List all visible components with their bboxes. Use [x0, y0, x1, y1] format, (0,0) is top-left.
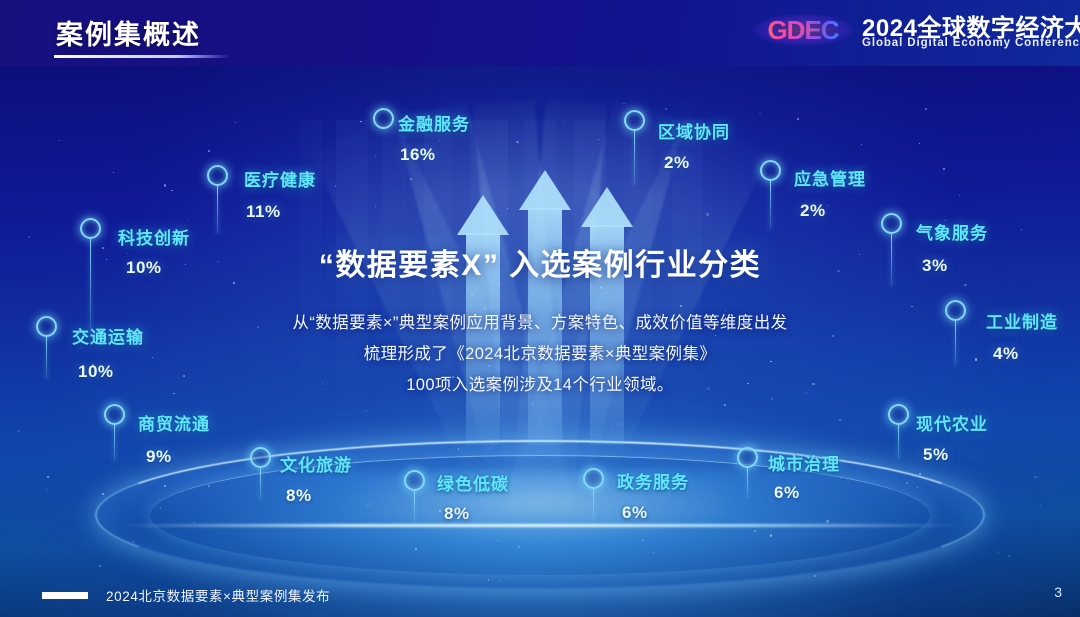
callout-stem: [891, 234, 893, 286]
particle: [706, 213, 708, 215]
slide-canvas: 案例集概述 GDEC 2024全球数字经济大会 Global Digital E…: [0, 0, 1080, 617]
description-line: 梳理形成了《2024北京数据要素×典型案例集》: [0, 339, 1080, 370]
callout-marker-icon: [36, 316, 57, 337]
particle: [99, 565, 101, 567]
particle: [997, 552, 999, 554]
callout-marker-icon: [624, 110, 645, 131]
title-underline: [54, 55, 230, 58]
conference-name-en: Global Digital Economy Conference 2024: [862, 37, 1080, 49]
industry-percentage: 9%: [146, 447, 172, 467]
header-band: 案例集概述 GDEC 2024全球数字经济大会 Global Digital E…: [0, 0, 1080, 66]
industry-label: 科技创新: [118, 224, 190, 249]
particle: [943, 168, 944, 169]
industry-label: 城市治理: [768, 450, 840, 475]
floor-highlight-line: [120, 524, 960, 527]
callout-marker-icon: [207, 165, 228, 186]
page-title: 案例集概述: [56, 13, 201, 52]
industry-label: 金融服务: [398, 110, 470, 135]
particle: [826, 520, 828, 522]
particle: [46, 489, 47, 490]
gdec-logo-icon: GDEC: [757, 12, 849, 48]
industry-percentage: 6%: [622, 503, 648, 523]
industry-percentage: 8%: [444, 504, 470, 524]
callout-marker-icon: [373, 108, 394, 129]
callout-marker-icon: [250, 447, 271, 468]
particle: [598, 139, 599, 140]
callout-stem: [217, 186, 219, 234]
industry-label: 商贸流通: [138, 410, 210, 435]
particle: [245, 563, 246, 564]
callout-marker-icon: [583, 468, 604, 489]
industry-label: 交通运输: [72, 323, 144, 348]
callout-stem: [593, 489, 595, 521]
particle: [642, 540, 643, 541]
industry-label: 区域协同: [658, 118, 730, 143]
description-line: 100项入选案例涉及14个行业领域。: [0, 370, 1080, 401]
particle: [653, 552, 654, 553]
industry-percentage: 10%: [78, 362, 114, 382]
particle: [917, 487, 918, 488]
particle: [28, 236, 30, 238]
industry-percentage: 2%: [800, 201, 826, 221]
particle: [919, 473, 921, 475]
callout-marker-icon: [888, 404, 909, 425]
description-line: 从“数据要素×”典型案例应用背景、方案特色、成效价值等维度出发: [0, 308, 1080, 339]
industry-label: 气象服务: [916, 219, 988, 244]
callout-stem: [414, 491, 416, 521]
particle: [516, 141, 518, 143]
callout-marker-icon: [881, 213, 902, 234]
industry-percentage: 6%: [774, 483, 800, 503]
industry-percentage: 4%: [993, 344, 1019, 364]
particle: [906, 482, 908, 484]
callout-marker-icon: [80, 218, 101, 239]
particle: [564, 122, 565, 123]
particle: [484, 567, 485, 568]
particle: [208, 485, 210, 487]
footer-accent-bar: [42, 592, 88, 599]
page-number: 3: [1054, 584, 1062, 600]
industry-percentage: 11%: [246, 202, 281, 222]
industry-label: 工业制造: [986, 308, 1058, 333]
industry-percentage: 8%: [286, 486, 312, 506]
callout-marker-icon: [104, 404, 125, 425]
callout-stem: [955, 321, 957, 365]
callout-stem: [46, 337, 48, 379]
callout-marker-icon: [760, 160, 781, 181]
industry-percentage: 16%: [400, 145, 436, 165]
particle: [375, 156, 376, 157]
particle: [113, 172, 114, 173]
particle: [59, 140, 60, 141]
callout-stem: [747, 468, 749, 498]
particle: [187, 219, 188, 220]
callout-marker-icon: [737, 447, 758, 468]
particle: [925, 108, 926, 109]
particle: [17, 430, 19, 432]
particle: [1021, 229, 1022, 230]
particle: [490, 447, 492, 449]
particle: [919, 143, 920, 144]
industry-label: 现代农业: [916, 410, 988, 435]
particle: [1008, 555, 1010, 557]
footer-caption: 2024北京数据要素×典型案例集发布: [106, 585, 330, 605]
industry-label: 应急管理: [794, 165, 866, 190]
industry-percentage: 3%: [922, 256, 948, 276]
callout-stem: [634, 131, 636, 185]
center-content: “数据要素X” 入选案例行业分类 从“数据要素×”典型案例应用背景、方案特色、成…: [0, 240, 1080, 401]
particle: [415, 548, 417, 550]
callout-stem: [898, 425, 900, 459]
particle: [497, 540, 498, 541]
callout-marker-icon: [404, 470, 425, 491]
description-block: 从“数据要素×”典型案例应用背景、方案特色、成效价值等维度出发 梳理形成了《20…: [0, 308, 1080, 401]
callout-stem: [770, 181, 772, 229]
industry-label: 绿色低碳: [437, 470, 509, 495]
particle: [208, 150, 210, 152]
particle: [839, 419, 841, 421]
particle: [861, 144, 862, 145]
callout-marker-icon: [945, 300, 966, 321]
industry-label: 政务服务: [617, 468, 689, 493]
industry-percentage: 5%: [923, 445, 949, 465]
industry-label: 文化旅游: [280, 451, 352, 476]
particle: [69, 537, 70, 538]
particle: [770, 534, 772, 536]
industry-percentage: 2%: [664, 153, 690, 173]
callout-stem: [90, 239, 92, 335]
industry-percentage: 10%: [126, 258, 162, 278]
particle: [164, 485, 166, 487]
callout-stem: [114, 425, 116, 461]
callout-stem: [260, 468, 262, 500]
industry-label: 医疗健康: [244, 166, 316, 191]
particle: [47, 476, 49, 478]
